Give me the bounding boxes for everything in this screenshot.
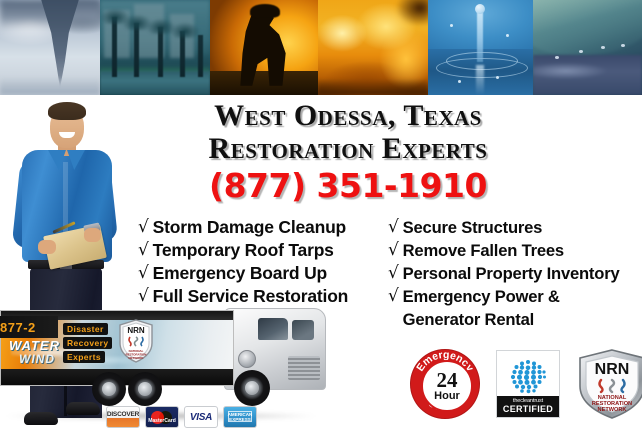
left-hand [38, 240, 56, 254]
tornado-storm-photo [0, 0, 100, 95]
tornado-funnel-shape [40, 0, 80, 88]
page-title-line-1: West Odessa, Texas [148, 99, 548, 132]
cab-wheel [234, 370, 270, 406]
services-list-left: √ Storm Damage Cleanup √ Temporary Roof … [138, 216, 378, 308]
accepted-payment-methods: DISCOVER MasterCard VISA AMERICAN EXPRES… [106, 406, 257, 428]
discover-label: DISCOVER [107, 411, 139, 418]
list-item-label: Full Service Restoration [153, 285, 349, 308]
trailer-wheel [128, 372, 162, 406]
list-item-label: Emergency Power & Generator Rental [403, 285, 560, 331]
cab-windshield [292, 320, 314, 340]
palm-trunk [134, 23, 139, 77]
fire-floor [210, 71, 318, 95]
checkmark-icon: √ [138, 216, 149, 239]
list-item: √ Emergency Power & Generator Rental [388, 285, 642, 331]
trailer-wheel [92, 372, 126, 406]
fire-base-shadow [318, 79, 428, 95]
wheel-hub [245, 381, 259, 395]
trailer-tag-experts: Experts [63, 351, 105, 363]
restoration-services-ad: West Odessa, Texas Restoration Experts (… [0, 0, 642, 432]
emergency-badge-hour-label: Hour [434, 390, 460, 402]
list-item: √ Storm Damage Cleanup [138, 216, 378, 239]
list-item: √ Temporary Roof Tarps [138, 239, 378, 262]
droplet-column [477, 10, 483, 62]
checkmark-icon: √ [388, 216, 399, 239]
wave-foam [533, 55, 642, 95]
svg-text:NETWORK: NETWORK [598, 407, 627, 413]
hair [48, 102, 86, 120]
mastercard-card-icon: MasterCard [145, 406, 179, 428]
services-list-right: √ Secure Structures √ Remove Fallen Tree… [388, 216, 642, 331]
svg-text:NRN: NRN [595, 361, 630, 378]
wave-spray [601, 46, 605, 49]
firefighter-helmet-silhouette [250, 4, 280, 18]
svg-text:NETWORK: NETWORK [129, 356, 145, 360]
palm-fronds [170, 22, 200, 38]
wave-spray [579, 50, 583, 53]
visa-card-icon: VISA [184, 406, 218, 428]
water-spark [506, 34, 509, 37]
cleantrust-certified-label: CERTIFIED [503, 404, 553, 415]
list-item-label: Storm Damage Cleanup [153, 216, 346, 239]
cab-emblem [238, 350, 256, 368]
firefighter-silhouette-photo [210, 0, 318, 95]
tornado-ground-haze [0, 77, 100, 95]
droplet-bead [475, 4, 485, 14]
list-item-label: Personal Property Inventory [403, 262, 620, 285]
trailer-rear-phone-text: 877-2 [0, 320, 36, 335]
emergency-badge-inner: 24 Hour [421, 360, 473, 412]
checkmark-icon: √ [138, 239, 149, 262]
list-item: √ Full Service Restoration [138, 285, 378, 308]
cab-grille [288, 356, 320, 380]
cleantrust-certified-badge: thecleantrust CERTIFIED [496, 350, 560, 418]
mastercard-label: MasterCard [146, 418, 178, 424]
trailer-word-water: WATER [9, 338, 60, 353]
wave-spray [621, 44, 625, 47]
droplet-reflection [476, 65, 484, 95]
discover-card-icon: DISCOVER [106, 406, 140, 428]
fire-flames-photo [318, 0, 428, 95]
trailer-tag-disaster: Disaster [63, 323, 108, 335]
list-item-label: Secure Structures [403, 216, 543, 239]
wave-crest [533, 0, 642, 56]
svg-text:NRN: NRN [127, 326, 145, 335]
trailer-tag-recovery: Recovery [63, 337, 112, 349]
phone-number[interactable]: (877) 351-1910 [148, 167, 548, 204]
water-spark [458, 80, 461, 83]
list-item: √ Personal Property Inventory [388, 262, 642, 285]
header-image-strip [0, 0, 642, 95]
checkmark-icon: √ [138, 285, 149, 308]
water-spark [450, 24, 453, 27]
wheel-hub [102, 382, 116, 396]
list-item-label: Remove Fallen Trees [403, 239, 564, 262]
list-item: √ Emergency Board Up [138, 262, 378, 285]
water-spark [496, 76, 499, 79]
headline-block: West Odessa, Texas Restoration Experts (… [148, 99, 548, 204]
cleantrust-text-bar: thecleantrust CERTIFIED [497, 396, 559, 417]
trailer-rear-phone-strip: 877-2 [0, 316, 58, 338]
trailer-nrn-shield-logo: NRN NATIONAL RESTORATION NETWORK [119, 319, 153, 363]
list-item: √ Remove Fallen Trees [388, 239, 642, 262]
palm-trunk [198, 35, 203, 77]
page-title-line-2: Restoration Experts [148, 132, 548, 165]
nrn-shield-icon: NRN NATIONAL RESTORATION NETWORK [576, 348, 642, 420]
wave-spray [555, 56, 559, 59]
water-droplet-photo [428, 0, 533, 95]
emergency-badge-number: 24 [437, 370, 458, 390]
list-item: √ Secure Structures [388, 216, 642, 239]
globe-icon [508, 356, 548, 396]
smoke-shape [396, 0, 428, 26]
trailer-word-wind: WIND [19, 352, 55, 366]
amex-card-icon: AMERICAN EXPRESS [223, 406, 257, 428]
emergency-24-hour-service-badge: Emergency Service 24 Hour [410, 349, 480, 419]
palm-trunk [112, 17, 117, 77]
amex-label: AMERICAN EXPRESS [224, 412, 256, 422]
list-item-label: Emergency Board Up [153, 262, 327, 285]
ocean-wave-photo [533, 0, 642, 95]
certification-badges: Emergency Service 24 Hour [410, 348, 642, 420]
right-hand [84, 228, 101, 242]
wheel-hub [138, 382, 152, 396]
checkmark-icon: √ [388, 262, 399, 285]
checkmark-icon: √ [388, 285, 399, 308]
checkmark-icon: √ [138, 262, 149, 285]
checkmark-icon: √ [388, 239, 399, 262]
visa-label: VISA [190, 412, 212, 423]
hurricane-palm-trees-photo [100, 0, 210, 95]
list-item-label: Temporary Roof Tarps [153, 239, 334, 262]
nrn-national-restoration-network-badge: NRN NATIONAL RESTORATION NETWORK [576, 348, 642, 420]
cab-window [258, 318, 288, 340]
palm-trunk [158, 27, 163, 77]
restoration-truck-photo: FIRE WATER WIND Disaster Recovery Expert… [0, 308, 330, 420]
